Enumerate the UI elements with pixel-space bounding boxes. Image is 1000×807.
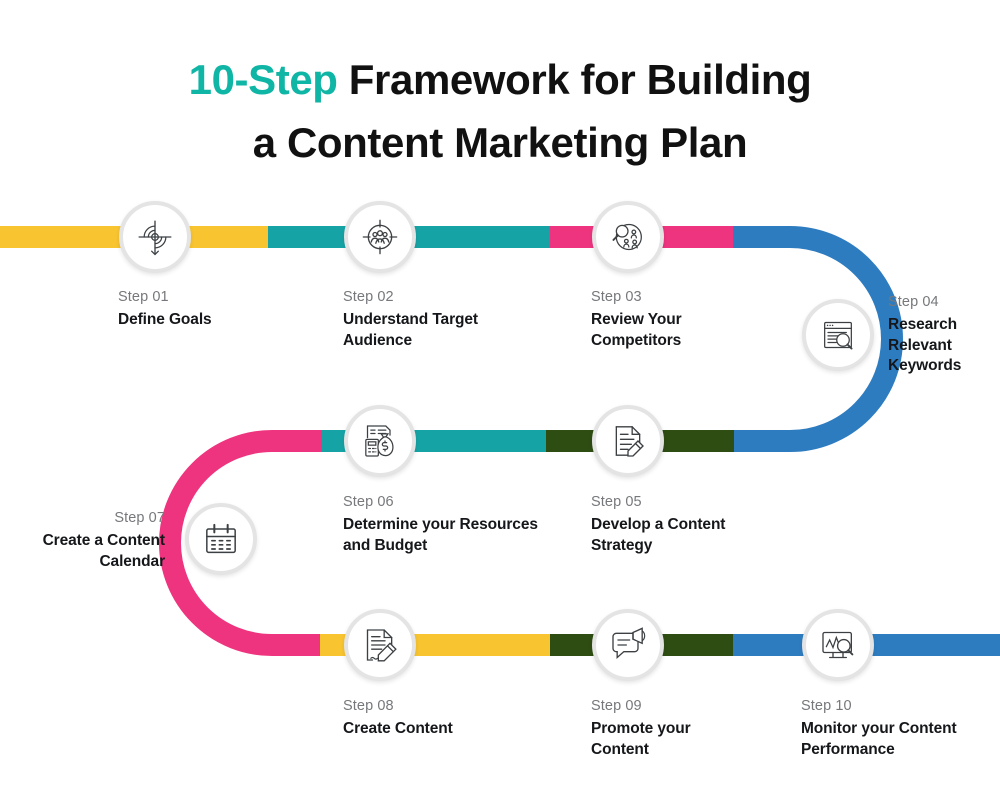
step-title-03: Review Your Competitors <box>591 310 771 351</box>
step-node-07[interactable] <box>185 503 257 575</box>
step-title-07: Create a Content Calendar <box>0 531 165 572</box>
step-label-05: Step 05 Develop a Content Strategy <box>591 492 771 556</box>
step-node-01[interactable] <box>119 201 191 273</box>
step-label-01: Step 01 Define Goals <box>118 287 298 331</box>
step-number-06: Step 06 <box>343 492 543 513</box>
step-title-08: Create Content <box>343 719 523 740</box>
step-title-05: Develop a Content Strategy <box>591 515 771 556</box>
step-number-07: Step 07 <box>0 508 165 529</box>
write-document-pencil-icon <box>360 625 400 665</box>
step-number-08: Step 08 <box>343 696 523 717</box>
step-title-01: Define Goals <box>118 310 298 331</box>
step-title-09: Promote your Content <box>591 719 721 760</box>
step-number-04: Step 04 <box>888 292 1000 313</box>
step-node-09[interactable] <box>592 609 664 681</box>
process-flow-track <box>0 0 1000 807</box>
step-node-02[interactable] <box>344 201 416 273</box>
step-label-09: Step 09 Promote your Content <box>591 696 721 760</box>
budget-money-bag-icon <box>360 421 400 461</box>
calendar-icon <box>201 519 241 559</box>
step-number-01: Step 01 <box>118 287 298 308</box>
step-number-10: Step 10 <box>801 696 986 717</box>
step-number-05: Step 05 <box>591 492 771 513</box>
step-label-07: Step 07 Create a Content Calendar <box>0 508 165 572</box>
step-node-08[interactable] <box>344 609 416 681</box>
target-crosshair-icon <box>135 217 175 257</box>
megaphone-speech-bubble-icon <box>608 625 648 665</box>
step-label-08: Step 08 Create Content <box>343 696 523 740</box>
document-pencil-strategy-icon <box>608 421 648 461</box>
step-node-06[interactable] <box>344 405 416 477</box>
step-title-10: Monitor your Content Performance <box>801 719 986 760</box>
step-number-03: Step 03 <box>591 287 771 308</box>
step-label-10: Step 10 Monitor your Content Performance <box>801 696 986 760</box>
monitor-analytics-search-icon <box>818 625 858 665</box>
step-label-06: Step 06 Determine your Resources and Bud… <box>343 492 543 556</box>
step-node-05[interactable] <box>592 405 664 477</box>
step-label-03: Step 03 Review Your Competitors <box>591 287 771 351</box>
step-title-06: Determine your Resources and Budget <box>343 515 543 556</box>
step-number-02: Step 02 <box>343 287 523 308</box>
step-label-02: Step 02 Understand Target Audience <box>343 287 523 351</box>
step-title-02: Understand Target Audience <box>343 310 523 351</box>
step-label-04: Step 04 Research Relevant Keywords <box>888 292 1000 377</box>
step-node-04[interactable] <box>802 299 874 371</box>
magnifier-people-icon <box>608 217 648 257</box>
target-audience-people-icon <box>360 217 400 257</box>
step-number-09: Step 09 <box>591 696 721 717</box>
step-node-03[interactable] <box>592 201 664 273</box>
document-search-icon <box>818 315 858 355</box>
step-node-10[interactable] <box>802 609 874 681</box>
step-title-04: Research Relevant Keywords <box>888 315 1000 377</box>
